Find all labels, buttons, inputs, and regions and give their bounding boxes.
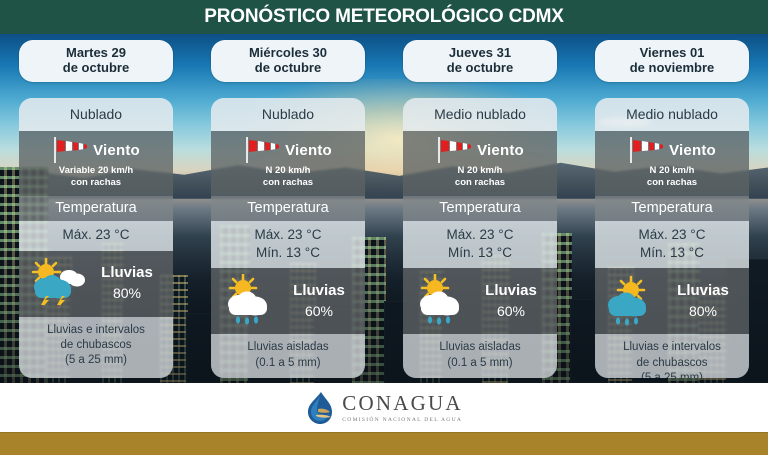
date-pill-day-month: de octubre (409, 60, 551, 75)
sky-condition: Nublado (19, 98, 173, 131)
rain-label: Lluvias (471, 282, 551, 299)
rain-note-line: Lluvias aisladas (407, 340, 553, 355)
wind-speed: N 20 km/h (266, 165, 311, 176)
temperature-values: Máx. 23 °C Mín. 13 °C (211, 221, 365, 269)
rain-note: Lluvias e intervalos de chubascos (5 a 2… (595, 334, 749, 378)
rain-note-line: Lluvias e intervalos (599, 340, 745, 355)
rain-note-line: de chubascos (599, 356, 745, 371)
wind-speed: Variable 20 km/h (59, 165, 133, 176)
rain-note-line: (0.1 a 5 mm) (407, 356, 553, 371)
temperature-values: Máx. 23 °C Mín. 13 °C (403, 221, 557, 269)
rain-label: Lluvias (663, 282, 743, 299)
rain-section: Lluvias 80% (19, 251, 173, 317)
rain-section: Lluvias 80% (595, 268, 749, 334)
page-title: PRONÓSTICO METEOROLÓGICO CDMX (204, 6, 563, 28)
gold-footer-bar (0, 432, 768, 455)
rain-note-line: (0.1 a 5 mm) (215, 356, 361, 371)
footer: CONAGUA COMISIÓN NACIONAL DEL AGUA (0, 383, 768, 432)
weather-forecast-poster: PRONÓSTICO METEOROLÓGICO CDMX Martes 29 … (0, 0, 768, 455)
rain-probability: 80% (663, 303, 743, 319)
forecast-card-day-1: Nublado Viento Va (19, 98, 173, 378)
temperature-min: Mín. 13 °C (213, 244, 363, 262)
rain-note-line: (5 a 25 mm) (23, 353, 169, 368)
forecast-card-day-3: Medio nublado Viento (403, 98, 557, 378)
date-pill-day-1[interactable]: Martes 29 de octubre (19, 40, 173, 82)
conagua-logo: CONAGUA COMISIÓN NACIONAL DEL AGUA (305, 391, 462, 425)
rain-probability: 60% (279, 303, 359, 319)
date-pill-row: Martes 29 de octubre Miércoles 30 de oct… (0, 40, 768, 88)
rain-section: Lluvias 60% (211, 268, 365, 334)
sun-cloud-rain-icon (409, 274, 471, 326)
rain-note-line: de chubascos (23, 338, 169, 353)
date-pill-day-month: de noviembre (601, 60, 743, 75)
temperature-values: Máx. 23 °C Mín. 13 °C (595, 221, 749, 269)
temperature-values: Máx. 23 °C (19, 221, 173, 251)
sky-condition: Nublado (211, 98, 365, 131)
wind-section: Viento N 20 km/h con rachas (595, 131, 749, 196)
conagua-logo-name: CONAGUA (342, 393, 462, 414)
wind-label: Viento (477, 142, 524, 159)
wind-gusts: con rachas (455, 177, 505, 188)
date-pill-day-2[interactable]: Miércoles 30 de octubre (211, 40, 365, 82)
rain-label: Lluvias (87, 264, 167, 281)
date-pill-day-4[interactable]: Viernes 01 de noviembre (595, 40, 749, 82)
rain-note-line: (5 a 25 mm) (599, 371, 745, 378)
wind-gusts: con rachas (71, 177, 121, 188)
sun-cloud-rain-icon (601, 274, 663, 326)
wind-section: Viento Variable 20 km/h con rachas (19, 131, 173, 196)
header-bar: PRONÓSTICO METEOROLÓGICO CDMX (0, 0, 768, 34)
rain-section: Lluvias 60% (403, 268, 557, 334)
temperature-label: Temperatura (595, 196, 749, 221)
wind-label: Viento (93, 142, 140, 159)
wind-gusts: con rachas (647, 177, 697, 188)
wind-speed: N 20 km/h (650, 165, 695, 176)
rain-note-line: Lluvias e intervalos (23, 323, 169, 338)
date-pill-day-name: Miércoles 30 (217, 45, 359, 60)
sky-condition: Medio nublado (595, 98, 749, 131)
temperature-max: Máx. 23 °C (213, 226, 363, 244)
rain-note-line: Lluvias aisladas (215, 340, 361, 355)
sun-cloud-thunderstorm-icon (25, 257, 87, 309)
windsock-icon (628, 136, 664, 164)
date-pill-day-3[interactable]: Jueves 31 de octubre (403, 40, 557, 82)
rain-probability: 60% (471, 303, 551, 319)
wind-label: Viento (669, 142, 716, 159)
wind-section: Viento N 20 km/h con rachas (403, 131, 557, 196)
conagua-logo-text: CONAGUA COMISIÓN NACIONAL DEL AGUA (342, 393, 462, 423)
date-pill-day-month: de octubre (217, 60, 359, 75)
forecast-card-day-4: Medio nublado Viento (595, 98, 749, 378)
windsock-icon (244, 136, 280, 164)
windsock-icon (52, 136, 88, 164)
date-pill-day-name: Viernes 01 (601, 45, 743, 60)
forecast-card-row: Nublado Viento Va (0, 98, 768, 378)
temperature-max: Máx. 23 °C (597, 226, 747, 244)
date-pill-day-month: de octubre (25, 60, 167, 75)
sun-cloud-rain-icon (217, 274, 279, 326)
temperature-label: Temperatura (211, 196, 365, 221)
wind-gusts: con rachas (263, 177, 313, 188)
rain-label: Lluvias (279, 282, 359, 299)
forecast-card-day-2: Nublado Viento N (211, 98, 365, 378)
rain-note: Lluvias aisladas (0.1 a 5 mm) (403, 334, 557, 378)
temperature-min: Mín. 13 °C (597, 244, 747, 262)
wind-section: Viento N 20 km/h con rachas (211, 131, 365, 196)
wind-speed: N 20 km/h (458, 165, 503, 176)
sky-condition: Medio nublado (403, 98, 557, 131)
rain-note: Lluvias e intervalos de chubascos (5 a 2… (19, 317, 173, 378)
wind-label: Viento (285, 142, 332, 159)
date-pill-day-name: Martes 29 (25, 45, 167, 60)
date-pill-day-name: Jueves 31 (409, 45, 551, 60)
temperature-label: Temperatura (19, 196, 173, 221)
water-drop-wave-icon (305, 391, 335, 425)
conagua-logo-subtitle: COMISIÓN NACIONAL DEL AGUA (342, 417, 462, 423)
rain-note: Lluvias aisladas (0.1 a 5 mm) (211, 334, 365, 378)
rain-probability: 80% (87, 285, 167, 301)
temperature-max: Máx. 23 °C (405, 226, 555, 244)
temperature-max: Máx. 23 °C (21, 226, 171, 244)
temperature-min: Mín. 13 °C (405, 244, 555, 262)
windsock-icon (436, 136, 472, 164)
temperature-label: Temperatura (403, 196, 557, 221)
